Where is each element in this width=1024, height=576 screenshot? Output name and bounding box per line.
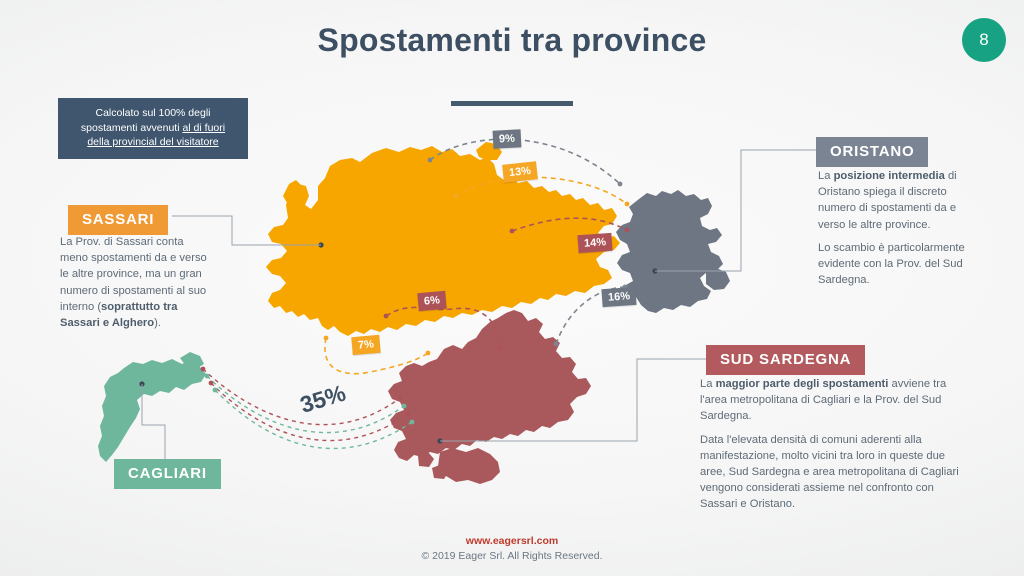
footer-copyright: © 2019 Eager Srl. All Rights Reserved. (0, 549, 1024, 564)
flow-arc-35-dot-h (410, 420, 415, 425)
flow-arc-14-start-dot (510, 229, 515, 234)
footer-website-link[interactable]: www.eagersrl.com (0, 534, 1024, 549)
paragraph-1: La maggior parte degli spostamenti avvie… (700, 376, 972, 425)
flow-arc-35-dot-b (205, 374, 210, 379)
text-run-1: La (700, 378, 716, 390)
flow-arc-35-dot-g (406, 412, 411, 417)
label-chip-sud-sardegna[interactable]: SUD SARDEGNA (706, 345, 865, 375)
flow-arc-13-end-dot (625, 202, 630, 207)
region-sud-sardegna-south-lobe (438, 448, 500, 484)
flow-arc-35-dot-c (209, 381, 214, 386)
flow-badge-7: 7% (351, 335, 380, 355)
slide-canvas: Spostamenti tra province 8 Calcolato sul… (0, 0, 1024, 576)
flow-badge-6: 6% (417, 291, 446, 311)
flow-badge-13: 13% (502, 161, 538, 182)
flow-arc-7-start-dot (324, 336, 329, 341)
label-chip-cagliari[interactable]: CAGLIARI (114, 459, 221, 489)
paragraph-1: La posizione intermedia di Oristano spie… (818, 168, 972, 233)
description-sud-sardegna: La maggior parte degli spostamenti avvie… (700, 376, 972, 513)
flow-arc-14-end-dot (625, 228, 630, 233)
flow-badge-14: 14% (577, 233, 612, 253)
description-sassari: La Prov. di Sassari conta meno spostamen… (60, 234, 210, 331)
text-run-1: Data l'elevata densità di comuni aderent… (700, 434, 959, 511)
flow-badge-9: 9% (493, 129, 522, 148)
flow-arc-6-start-dot (384, 314, 389, 319)
flow-arc-35-dot-a (201, 367, 206, 372)
description-oristano: La posizione intermedia di Oristano spie… (818, 168, 972, 288)
leader-line-cagliari (142, 384, 165, 459)
flow-arc-35-dot-e (398, 396, 403, 401)
region-cagliari-shape[interactable] (98, 359, 206, 462)
text-run-bold-2: maggior parte degli spostamenti (716, 378, 889, 390)
flow-arc-6-end-dot (498, 346, 503, 351)
text-run-1: La (818, 170, 834, 182)
flow-arc-35-dot-f (402, 404, 407, 409)
flow-arc-9-end-dot (618, 182, 623, 187)
text-run-1: Lo scambio è particolarmente evidente co… (818, 242, 965, 286)
text-run-bold-2: posizione intermedia (834, 170, 945, 182)
paragraph-2: Lo scambio è particolarmente evidente co… (818, 240, 972, 289)
label-chip-sassari[interactable]: SASSARI (68, 205, 168, 235)
flow-arc-16-start-dot (554, 342, 559, 347)
flow-arc-35-dot-d (213, 388, 218, 393)
paragraph-2: Data l'elevata densità di comuni aderent… (700, 432, 972, 513)
flow-arc-7-end-dot (426, 351, 431, 356)
flow-badge-16: 16% (601, 287, 636, 307)
flow-arc-13-start-dot (453, 194, 458, 199)
label-chip-oristano[interactable]: ORISTANO (816, 137, 928, 167)
footer: www.eagersrl.com © 2019 Eager Srl. All R… (0, 534, 1024, 564)
paragraph-1: La Prov. di Sassari conta meno spostamen… (60, 234, 210, 331)
flow-arc-9-start-dot (428, 158, 433, 163)
text-run-3: ). (154, 317, 161, 329)
